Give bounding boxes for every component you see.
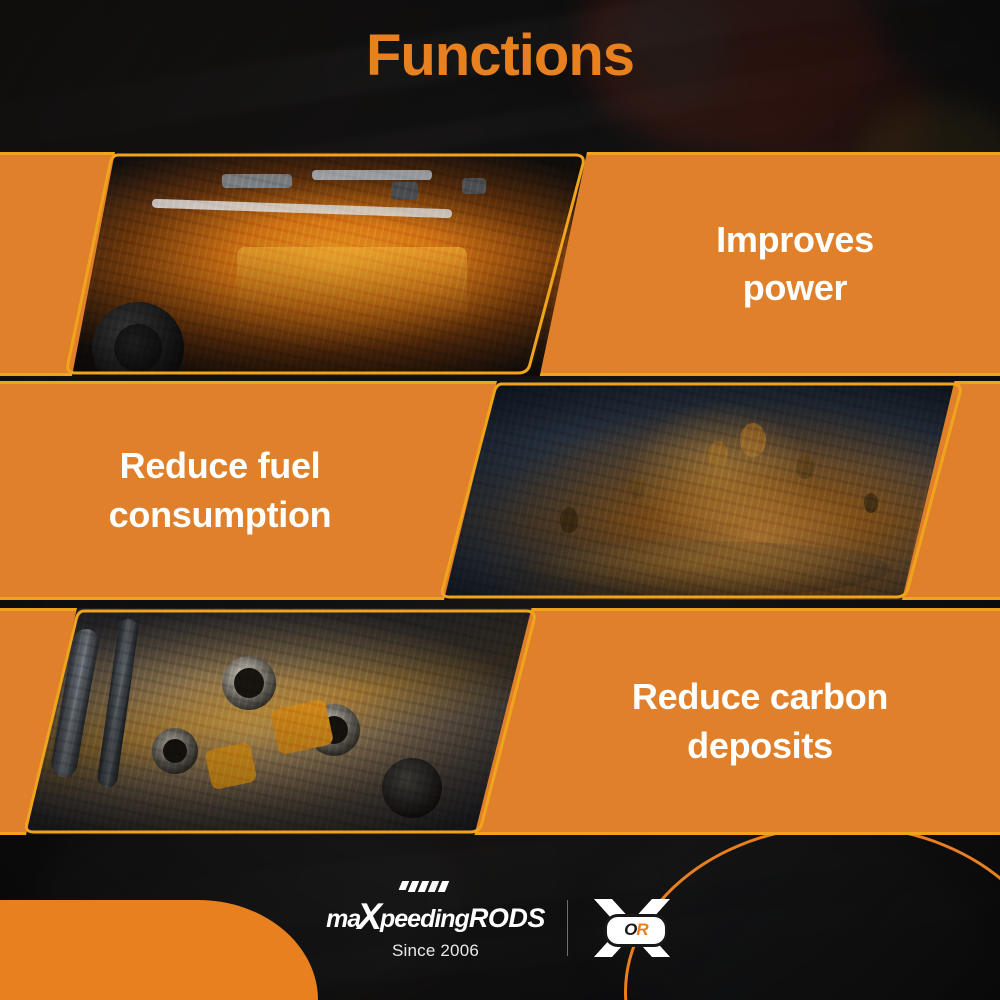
badge-letter-o: O [624,920,636,940]
caption-line: consumption [109,491,332,539]
page-title: Functions [0,26,1000,87]
caption-line: Reduce fuel [109,442,332,490]
logo-part-rods: RODS [469,903,545,934]
speed-flag-icon [398,881,449,892]
band-caption-improves-power: Improves power [590,152,1000,376]
band-caption-reduce-carbon-deposits: Reduce carbon deposits [520,608,1000,835]
logo-part-x: X [357,896,382,938]
or-x-badge: OR [590,897,674,959]
feature-band-improves-power: Improves power [0,152,1000,376]
caption-line: deposits [632,722,888,770]
caption-line: Improves [716,216,874,264]
logo-part-ma: ma [326,905,360,934]
logo-tagline: Since 2006 [392,941,479,961]
poster: Functions [0,0,1000,1000]
caption-line: power [716,264,874,312]
logo-part-peeding: peeding [380,905,469,934]
footer: ma X peeding RODS Since 2006 OR [0,882,1000,1000]
feature-band-reduce-carbon-deposits: Reduce carbon deposits [0,608,1000,835]
or-lettering: OR [604,914,668,947]
footer-divider [567,900,568,956]
band-caption-reduce-fuel-consumption: Reduce fuel consumption [0,381,440,600]
caption-line: Reduce carbon [632,673,888,721]
badge-letter-r: R [636,920,647,940]
feature-band-reduce-fuel-consumption: Reduce fuel consumption [0,381,1000,600]
maxpeedingrods-logo: ma X peeding RODS Since 2006 [326,894,545,961]
logo-wordmark: ma X peeding RODS [326,894,545,936]
